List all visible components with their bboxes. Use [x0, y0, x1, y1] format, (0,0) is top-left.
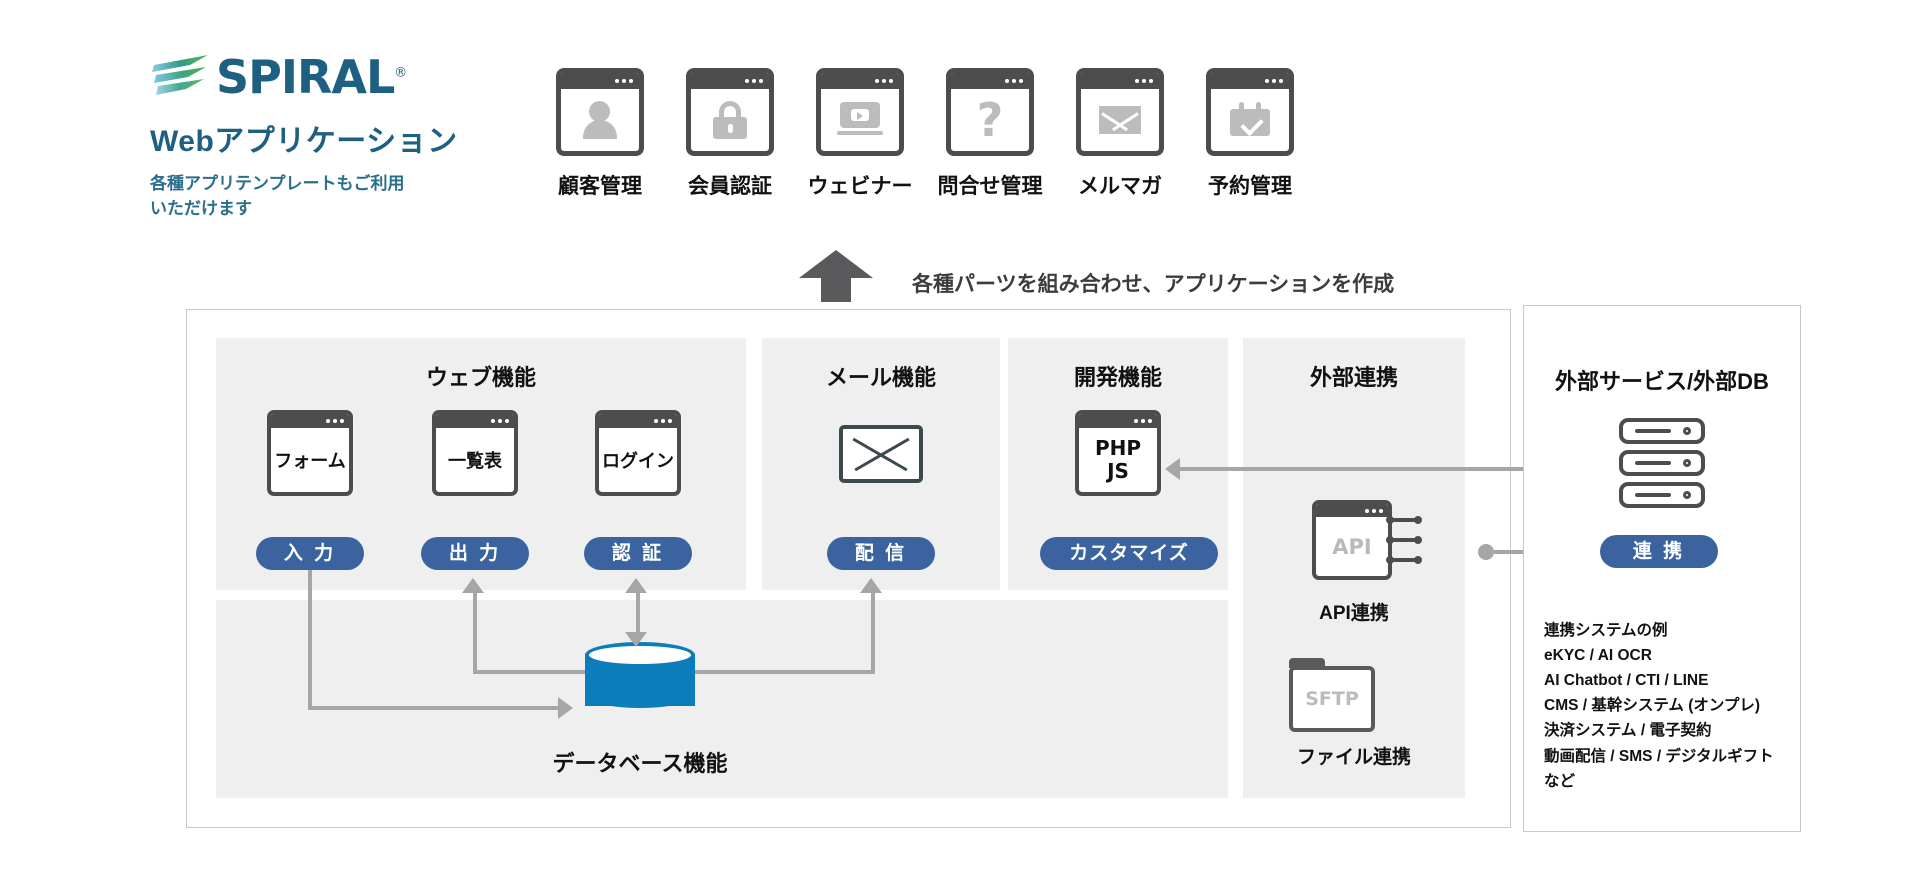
- list-item: AI Chatbot / CTI / LINE: [1544, 668, 1774, 693]
- server-rack-unit: [1619, 450, 1705, 476]
- list-item: eKYC / AI OCR: [1544, 643, 1774, 668]
- logo-wordmark: SPIRAL®: [216, 54, 406, 100]
- connector-mail-up: [871, 592, 875, 672]
- window-content: [691, 89, 769, 151]
- pill-output[interactable]: 出 力: [421, 537, 529, 570]
- brand-note: 各種アプリテンプレートもご利用 いただけます: [150, 172, 550, 221]
- database-label: データベース機能: [520, 746, 760, 778]
- window-titlebar: [1316, 504, 1388, 517]
- tile-text: ログイン: [599, 428, 677, 492]
- browser-window-frame: [556, 68, 644, 156]
- api-connector-dot: [1386, 536, 1394, 544]
- browser-window-frame: フォーム: [267, 410, 353, 496]
- app-tile-label: 予約管理: [1191, 170, 1309, 200]
- connector-arrowhead-up: [625, 578, 647, 593]
- app-tile-label: メルマガ: [1061, 170, 1179, 200]
- window-content: [561, 89, 639, 151]
- tile-form[interactable]: フォーム: [267, 410, 353, 496]
- app-tile-reservation-management[interactable]: 予約管理: [1191, 68, 1309, 200]
- connector-arrowhead-up: [462, 578, 484, 593]
- browser-window-frame: [1206, 68, 1294, 156]
- file-integration-caption: ファイル連携: [1243, 742, 1465, 769]
- connector-arrowhead-down: [625, 632, 647, 647]
- app-tile-label: ウェビナー: [801, 170, 919, 200]
- api-connector-dot: [1386, 516, 1394, 524]
- window-content: [1211, 89, 1289, 151]
- tile-text-js: JS: [1095, 460, 1141, 483]
- browser-window-frame: PHP JS: [1075, 410, 1161, 496]
- calendar-check-icon: [1230, 102, 1270, 138]
- window-titlebar: [561, 73, 639, 89]
- registered-mark: ®: [394, 66, 406, 81]
- server-rack-unit: [1619, 418, 1705, 444]
- laptop-play-icon: [837, 102, 883, 138]
- browser-window-frame: [816, 68, 904, 156]
- connector-form-right: [308, 706, 560, 710]
- integration-examples-list: 連携システムの例 eKYC / AI OCR AI Chatbot / CTI …: [1544, 618, 1774, 794]
- connector-mail-h: [695, 670, 875, 674]
- pill-input[interactable]: 入 力: [256, 537, 364, 570]
- api-window-icon[interactable]: API: [1312, 500, 1392, 580]
- list-item: など: [1544, 769, 1774, 794]
- app-tile-label: 問合せ管理: [931, 170, 1049, 200]
- connector-arrowhead-left: [1165, 458, 1180, 480]
- tile-list[interactable]: 一覧表: [432, 410, 518, 496]
- browser-window-frame: [686, 68, 774, 156]
- tile-text: PHP JS: [1079, 428, 1157, 492]
- connector-list-h: [473, 670, 585, 674]
- list-item: 決済システム / 電子契約: [1544, 718, 1774, 743]
- panel-title-dev: 開発機能: [1008, 360, 1228, 392]
- pill-link[interactable]: 連 携: [1600, 535, 1718, 568]
- pill-delivery[interactable]: 配 信: [827, 537, 935, 570]
- window-titlebar: [599, 414, 677, 428]
- panel-title-web: ウェブ機能: [216, 360, 746, 392]
- app-tile-member-auth[interactable]: 会員認証: [671, 68, 789, 200]
- window-titlebar: [1211, 73, 1289, 89]
- api-icon-text: API: [1316, 517, 1388, 576]
- api-connector-dot: [1414, 516, 1422, 524]
- list-item: 連携システムの例: [1544, 618, 1774, 643]
- person-icon: [583, 101, 617, 139]
- app-tile-label: 顧客管理: [541, 170, 659, 200]
- logo-text: SPIRAL: [216, 50, 394, 104]
- arrow-caption: 各種パーツを組み合わせ、アプリケーションを作成: [912, 268, 1394, 298]
- tile-php-js[interactable]: PHP JS: [1075, 410, 1161, 496]
- browser-window-frame: ?: [946, 68, 1034, 156]
- app-tile-mail-magazine[interactable]: メルマガ: [1061, 68, 1179, 200]
- window-titlebar: [436, 414, 514, 428]
- pill-auth[interactable]: 認 証: [584, 537, 692, 570]
- brand-block: SPIRAL® Webアプリケーション 各種アプリテンプレートもご利用 いただけ…: [150, 50, 550, 221]
- lock-icon: [713, 101, 747, 139]
- window-titlebar: [271, 414, 349, 428]
- api-caption: API連携: [1243, 598, 1465, 625]
- list-item: CMS / 基幹システム (オンプレ): [1544, 693, 1774, 718]
- window-titlebar: [1079, 414, 1157, 428]
- app-tile-label: 会員認証: [671, 170, 789, 200]
- window-titlebar: [821, 73, 899, 89]
- tile-text: 一覧表: [436, 428, 514, 492]
- brand-subtitle: Webアプリケーション: [150, 116, 550, 160]
- app-tile-customer-management[interactable]: 顧客管理: [541, 68, 659, 200]
- browser-window-frame: [1076, 68, 1164, 156]
- sftp-icon-text: SFTP: [1305, 688, 1359, 710]
- api-connector-dot: [1386, 556, 1394, 564]
- window-titlebar: [951, 73, 1029, 89]
- list-item: 動画配信 / SMS / デジタルギフト: [1544, 744, 1774, 769]
- question-mark-icon: ?: [977, 97, 1004, 143]
- window-titlebar: [691, 73, 769, 89]
- brand-note-line1: 各種アプリテンプレートもご利用: [150, 174, 405, 193]
- sftp-folder-icon[interactable]: SFTP: [1289, 666, 1375, 732]
- browser-window-frame: ログイン: [595, 410, 681, 496]
- tile-text: フォーム: [271, 428, 349, 492]
- connector-arrowhead-right: [558, 697, 573, 719]
- database-cylinder-icon: [585, 642, 695, 718]
- panel-title-external: 外部連携: [1243, 360, 1465, 392]
- window-content: [1081, 89, 1159, 151]
- api-connector-dot: [1414, 536, 1422, 544]
- app-tile-webinar[interactable]: ウェビナー: [801, 68, 919, 200]
- window-content: [821, 89, 899, 151]
- connector-form-down: [308, 570, 312, 710]
- window-content: ?: [951, 89, 1029, 151]
- tile-text-php: PHP: [1095, 437, 1141, 460]
- app-tile-inquiry-management[interactable]: ? 問合せ管理: [931, 68, 1049, 200]
- spiral-swoosh-icon: [150, 52, 212, 102]
- logo-row: SPIRAL®: [150, 50, 550, 104]
- tile-login[interactable]: ログイン: [595, 410, 681, 496]
- envelope-icon: [839, 425, 923, 483]
- compose-arrow-up-icon: [799, 250, 873, 302]
- brand-note-line2: いただけます: [150, 199, 252, 218]
- mail-icon: [1099, 106, 1141, 134]
- connector-list-up: [473, 592, 477, 672]
- pill-customize[interactable]: カスタマイズ: [1040, 537, 1218, 570]
- browser-window-frame: 一覧表: [432, 410, 518, 496]
- external-services-title: 外部サービス/外部DB: [1523, 364, 1801, 396]
- connector-arrowhead-up: [860, 578, 882, 593]
- panel-title-mail: メール機能: [762, 360, 1000, 392]
- server-rack-unit: [1619, 482, 1705, 508]
- api-connector-dot: [1414, 556, 1422, 564]
- window-titlebar: [1081, 73, 1159, 89]
